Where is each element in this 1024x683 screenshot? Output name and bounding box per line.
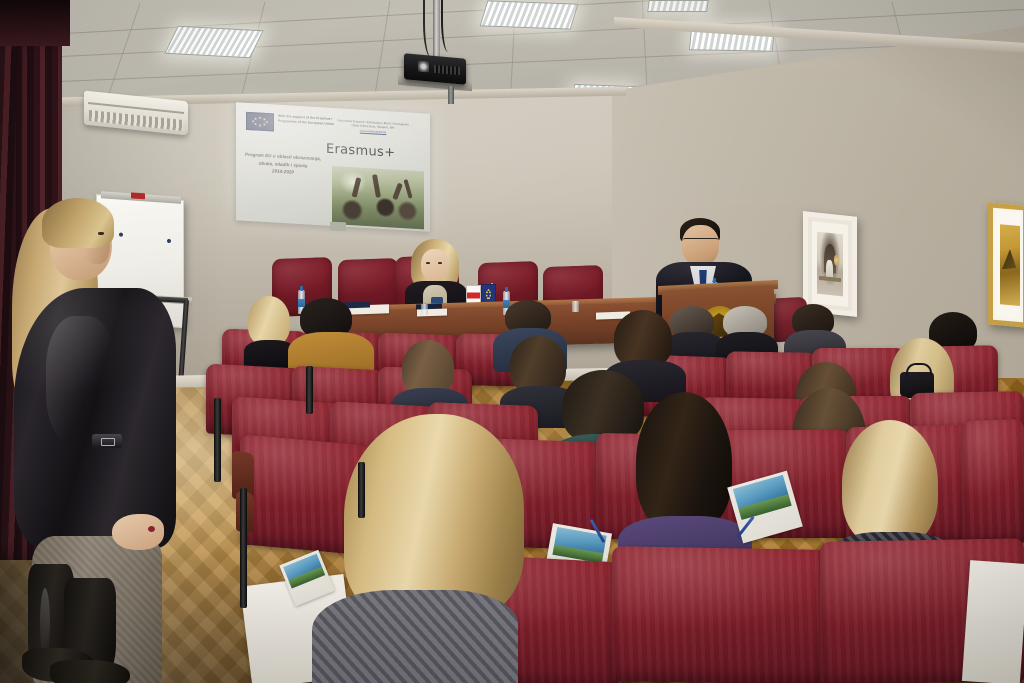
ceiling-light-panel: [164, 26, 263, 59]
curtain-header: [0, 0, 70, 46]
jacket-buckle: [92, 434, 122, 448]
conference-hall-photo: With the support of the Erasmus+ Program…: [0, 0, 1024, 683]
attendee: [292, 298, 366, 370]
fingernail: [148, 526, 155, 532]
attendee: [718, 306, 772, 358]
framed-picture-2: [988, 202, 1024, 327]
eu-flag-icon: [246, 112, 274, 132]
attendee: [326, 414, 532, 683]
seat: [612, 546, 828, 683]
agency-caption: Nacionalna Erasmus+ kancelarija u Bosni …: [325, 118, 421, 137]
seat-row-leg: [214, 398, 221, 482]
face: [682, 225, 719, 267]
ceiling-light-panel: [480, 0, 579, 29]
paper-sheet: [962, 560, 1024, 683]
hands: [112, 514, 164, 550]
slide-title: Erasmus+: [326, 142, 395, 161]
eye: [98, 232, 104, 235]
drinking-glass: [572, 301, 579, 312]
attendee: [628, 392, 740, 562]
hair: [248, 296, 290, 346]
seat-row-leg: [358, 462, 365, 518]
standing-presenter: [6, 196, 182, 683]
table-folder: [416, 304, 442, 310]
screen-bottom-tab: [330, 222, 346, 232]
sweater: [312, 590, 518, 683]
ceiling-projector: [404, 53, 466, 84]
face: [421, 249, 449, 283]
attendee: [248, 296, 290, 354]
boot-foot: [50, 660, 130, 683]
hair: [842, 420, 938, 546]
slide-photo: [332, 166, 424, 229]
projector-lens-icon: [418, 61, 429, 73]
drinking-glass: [421, 304, 428, 315]
seat-row-leg: [306, 366, 313, 414]
projection-screen: With the support of the Erasmus+ Program…: [236, 102, 430, 232]
hair-top: [42, 198, 114, 248]
seat-row-leg: [240, 488, 247, 608]
projector-mount-screw: [448, 86, 454, 104]
projector-vent: [434, 65, 460, 75]
slide-body-text: Program EU u oblasti obrazovanja, obuke,…: [244, 151, 322, 178]
seat: [962, 419, 1024, 547]
projector-mount-pole: [433, 0, 440, 62]
framed-picture-1: [803, 211, 857, 317]
ceiling-light-panel: [647, 0, 709, 12]
hair: [636, 392, 732, 532]
projector-cable: [441, 0, 453, 52]
attendee: [398, 340, 460, 410]
eyeglasses-icon: [683, 238, 718, 245]
